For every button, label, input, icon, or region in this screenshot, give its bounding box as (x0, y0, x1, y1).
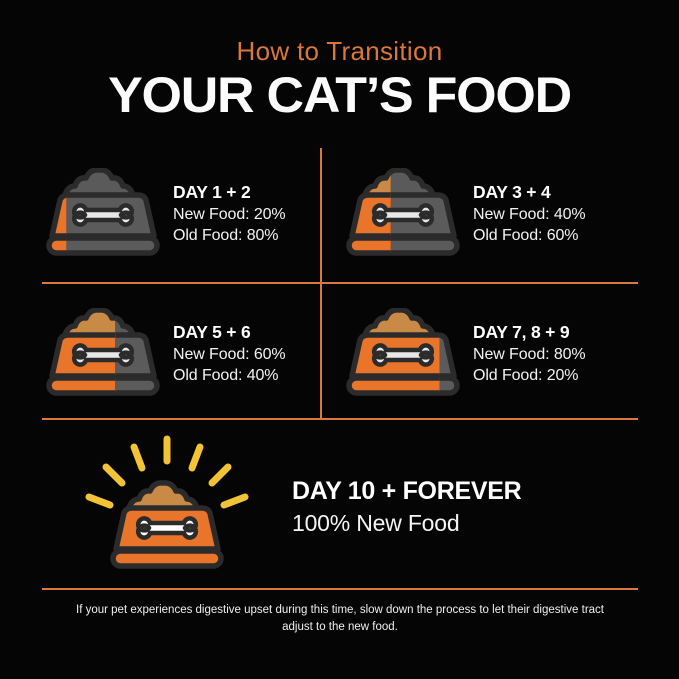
food-bowl-icon-1 (42, 168, 164, 260)
footnote-text: If your pet experiences digestive upset … (70, 602, 610, 637)
bone-emblem-2 (374, 205, 432, 224)
food-bowl-icon-2 (342, 168, 464, 260)
bone-emblem-4 (374, 345, 432, 364)
step-old-food-1: Old Food: 80% (173, 225, 286, 246)
step-day-label-1: DAY 1 + 2 (173, 182, 286, 204)
step-card-3: DAY 5 + 6 New Food: 60% Old Food: 40% (40, 295, 330, 413)
bowl-wrap-3 (40, 308, 165, 400)
step-day-label-2: DAY 3 + 4 (473, 182, 586, 204)
step-new-food-3: New Food: 60% (173, 344, 286, 365)
final-day-label: DAY 10 + FOREVER (292, 475, 521, 508)
bowl-wrap-4 (340, 308, 465, 400)
step-text-1: DAY 1 + 2 New Food: 20% Old Food: 80% (165, 182, 286, 246)
final-step-card: DAY 10 + FOREVER 100% New Food (42, 432, 638, 582)
food-bowl-icon-3 (42, 308, 164, 400)
divider-row-2 (42, 418, 638, 420)
bowl-wrap-2 (340, 168, 465, 260)
step-text-3: DAY 5 + 6 New Food: 60% Old Food: 40% (165, 322, 286, 386)
step-day-label-4: DAY 7, 8 + 9 (473, 322, 586, 344)
bone-emblem-1 (74, 205, 132, 224)
step-new-food-1: New Food: 20% (173, 204, 286, 225)
header-subtitle: How to Transition (0, 36, 679, 67)
step-card-2: DAY 3 + 4 New Food: 40% Old Food: 60% (340, 155, 630, 273)
food-bowl-celebration-icon (80, 435, 255, 580)
step-card-4: DAY 7, 8 + 9 New Food: 80% Old Food: 20% (340, 295, 630, 413)
bowl-wrap-1 (40, 168, 165, 260)
final-bowl-wrap (42, 435, 292, 580)
food-bowl-icon-4 (342, 308, 464, 400)
final-food-label: 100% New Food (292, 508, 521, 539)
header: How to Transition YOUR CAT’S FOOD (0, 0, 679, 122)
step-new-food-2: New Food: 40% (473, 204, 586, 225)
step-old-food-2: Old Food: 60% (473, 225, 586, 246)
step-new-food-4: New Food: 80% (473, 344, 586, 365)
bone-emblem-3 (74, 345, 132, 364)
final-step-text: DAY 10 + FOREVER 100% New Food (292, 475, 521, 539)
infographic-root: How to Transition YOUR CAT’S FOOD (0, 0, 679, 679)
step-old-food-4: Old Food: 20% (473, 365, 586, 386)
step-text-2: DAY 3 + 4 New Food: 40% Old Food: 60% (465, 182, 586, 246)
divider-row-1 (42, 282, 638, 284)
step-text-4: DAY 7, 8 + 9 New Food: 80% Old Food: 20% (465, 322, 586, 386)
bone-emblem-final (138, 518, 196, 537)
page-title: YOUR CAT’S FOOD (0, 69, 679, 122)
step-card-1: DAY 1 + 2 New Food: 20% Old Food: 80% (40, 155, 330, 273)
step-day-label-3: DAY 5 + 6 (173, 322, 286, 344)
divider-footnote (42, 588, 638, 590)
step-old-food-3: Old Food: 40% (173, 365, 286, 386)
